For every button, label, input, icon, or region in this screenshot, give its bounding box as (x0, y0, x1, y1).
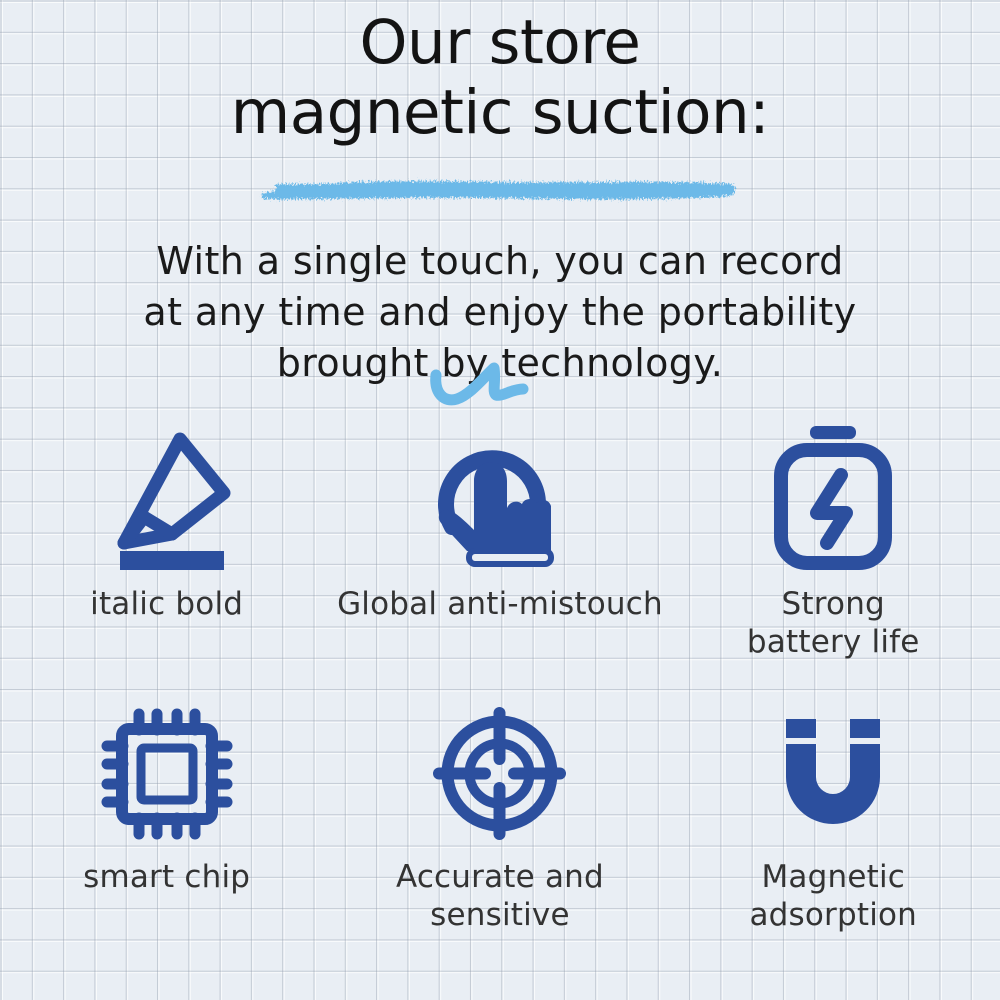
feature-item-italic-bold: italic bold (0, 410, 333, 690)
pen-underline-bar (120, 551, 224, 570)
feature-label: Accurate and sensitive (335, 858, 665, 934)
feature-label-line-2: adsorption (749, 896, 917, 934)
paragraph-line-1: With a single touch, you can record (60, 236, 940, 287)
magnet-icon-container (768, 693, 898, 858)
feature-row: smart chip (0, 693, 1000, 983)
page-title: Our store magnetic suction: (0, 8, 1000, 148)
touch-hand-icon (422, 411, 577, 581)
poster-canvas: Our store magnetic suction: With a singl… (0, 0, 1000, 1000)
paragraph-line-2: at any time and enjoy the portability (60, 287, 940, 338)
feature-label-line-1: Strong (747, 585, 920, 623)
feature-item-global-anti-mistouch: Global anti-mistouch (333, 410, 666, 690)
feature-label: Global anti-mistouch (337, 585, 663, 623)
feature-item-smart-chip: smart chip (0, 693, 333, 983)
feature-grid: italic bold (0, 410, 1000, 990)
crosshair-icon-container (427, 693, 572, 858)
battery-charge-icon (763, 418, 903, 573)
brush-underline-icon (250, 163, 745, 209)
chip-icon (97, 704, 237, 844)
title-line-1: Our store (0, 8, 1000, 78)
feature-label: smart chip (83, 858, 250, 896)
touch-hand-icon-container (422, 410, 577, 585)
crosshair-icon (427, 701, 572, 846)
feature-label: Magnetic adsorption (749, 858, 917, 934)
feature-item-magnetic-adsorption: Magnetic adsorption (667, 693, 1000, 983)
feature-label-line-1: Magnetic (749, 858, 917, 896)
feature-label-line-1: Accurate and sensitive (335, 858, 665, 934)
lightning-bolt (817, 475, 846, 543)
magnet-pole-gap-right (848, 738, 882, 744)
pen-icon (92, 421, 242, 571)
pen-icon-container (92, 410, 242, 585)
battery-charge-icon-container (763, 410, 903, 585)
feature-label-line-1: smart chip (83, 858, 250, 896)
feature-label: Strong battery life (747, 585, 920, 661)
feature-row: italic bold (0, 410, 1000, 690)
title-line-2: magnetic suction: (0, 78, 1000, 148)
feature-label-line-2: battery life (747, 623, 920, 661)
feature-label-line-1: italic bold (90, 585, 243, 623)
feature-label: italic bold (90, 585, 243, 623)
feature-label-line-1: Global anti-mistouch (337, 585, 663, 623)
feature-item-strong-battery-life: Strong battery life (667, 410, 1000, 690)
chip-icon-container (97, 693, 237, 858)
magnet-pole-gap-left (784, 738, 818, 744)
handwritten-squiggle-icon (426, 359, 536, 418)
feature-item-accurate-and-sensitive: Accurate and sensitive (333, 693, 666, 983)
battery-cap (810, 426, 856, 439)
magnet-icon (768, 709, 898, 839)
